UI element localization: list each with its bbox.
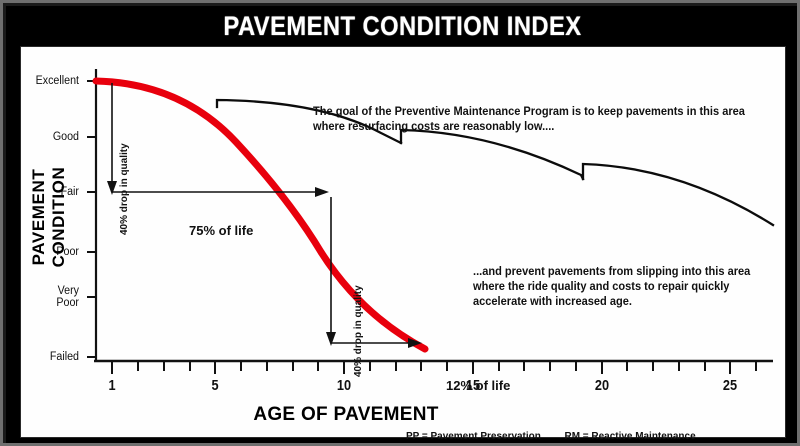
annotation-drop-quality-2: 40% drop in quality xyxy=(353,285,364,377)
legend-footnote: PP = Pavement Preservation RM = Reactive… xyxy=(406,430,767,442)
footnote-pp: PP = Pavement Preservation xyxy=(406,430,541,442)
x-tick-label-1: 1 xyxy=(95,377,129,394)
y-axis-title: PAVEMENT CONDITION xyxy=(29,117,69,317)
annotation-12-percent-life: 12% of life xyxy=(446,378,510,393)
annotation-75-percent-life: 75% of life xyxy=(189,223,253,238)
callout-preventive-maintenance: The goal of the Preventive Maintenance P… xyxy=(313,105,774,135)
x-tick-label-5: 5 xyxy=(198,377,232,394)
annotation-drop-quality-1: 40% drop in quality xyxy=(119,143,130,235)
footnote-rm: RM = Reactive Maintenance xyxy=(565,430,696,442)
figure-inner: PAVEMENT CONDITION INDEX xyxy=(6,6,800,446)
x-axis-ticks xyxy=(112,361,756,374)
x-tick-label-20: 20 xyxy=(585,377,619,394)
page-title: PAVEMENT CONDITION INDEX xyxy=(224,11,582,42)
chart-area: Excellent Good Fair Poor Very Poor Faile… xyxy=(20,46,786,438)
y-tick-label-failed: Failed xyxy=(20,351,79,363)
callout-reactive-maintenance: ...and prevent pavements from slipping i… xyxy=(473,265,761,310)
x-tick-label-25: 25 xyxy=(713,377,747,394)
x-axis-title: AGE OF PAVEMENT xyxy=(186,404,506,426)
title-banner: PAVEMENT CONDITION INDEX xyxy=(6,6,800,46)
figure-frame: PAVEMENT CONDITION INDEX xyxy=(0,0,800,446)
y-tick-label-excellent: Excellent xyxy=(20,75,79,87)
x-tick-label-10: 10 xyxy=(327,377,361,394)
